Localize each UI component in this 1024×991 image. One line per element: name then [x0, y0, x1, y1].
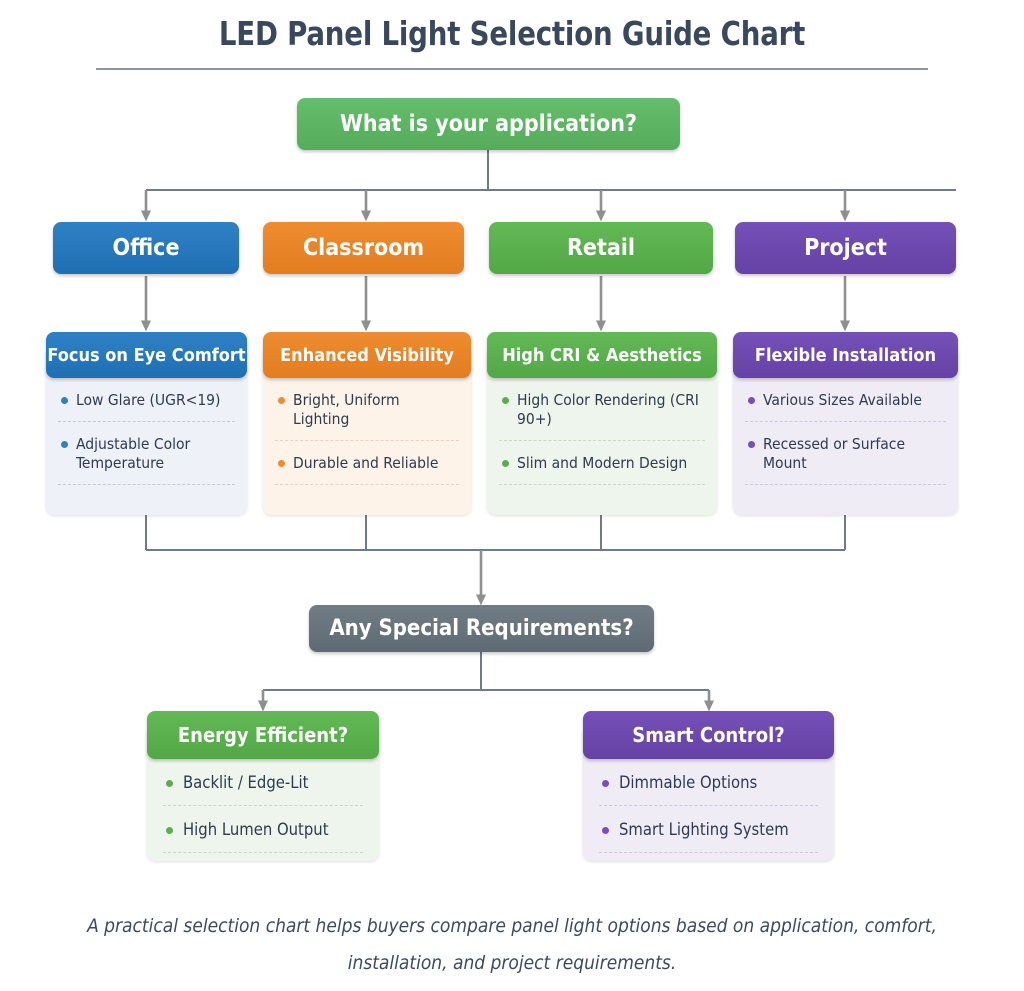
card-item-list: Dimmable Options Smart Lighting System [583, 759, 834, 853]
category-box-project[interactable]: Project [735, 222, 956, 274]
list-item: Recessed or Surface Mount [745, 422, 946, 485]
card-header: Enhanced Visibility [263, 332, 471, 378]
list-item: Various Sizes Available [745, 378, 946, 422]
footer-caption: A practical selection chart helps buyers… [72, 908, 952, 982]
feature-card-enhanced-visibility[interactable]: Enhanced Visibility Bright, Uniform Ligh… [263, 332, 471, 515]
list-item: Dimmable Options [599, 759, 818, 806]
list-item: Backlit / Edge-Lit [163, 759, 363, 806]
category-box-classroom[interactable]: Classroom [263, 222, 464, 274]
feature-card-high-cri[interactable]: High CRI & Aesthetics High Color Renderi… [487, 332, 717, 515]
list-item: High Color Rendering (CRI 90+) [499, 378, 705, 441]
card-item-list: Bright, Uniform Lighting Durable and Rel… [263, 378, 471, 485]
list-item: Slim and Modern Design [499, 441, 705, 485]
root-question-box[interactable]: What is your application? [297, 98, 680, 150]
list-item: Adjustable Color Temperature [58, 422, 235, 485]
card-header: Smart Control? [583, 711, 834, 759]
flowchart-canvas: LED Panel Light Selection Guide Chart [0, 0, 1024, 991]
list-item: Smart Lighting System [599, 806, 818, 853]
list-item: High Lumen Output [163, 806, 363, 853]
list-item: Low Glare (UGR<19) [58, 378, 235, 422]
title-divider [96, 68, 928, 70]
card-item-list: Low Glare (UGR<19) Adjustable Color Temp… [46, 378, 247, 485]
feature-card-flexible-installation[interactable]: Flexible Installation Various Sizes Avai… [733, 332, 958, 515]
decision-box-special-requirements[interactable]: Any Special Requirements? [309, 605, 654, 652]
category-box-office[interactable]: Office [53, 222, 239, 274]
list-item: Durable and Reliable [275, 441, 459, 485]
outcome-card-energy-efficient[interactable]: Energy Efficient? Backlit / Edge-Lit Hig… [147, 711, 379, 861]
card-item-list: Backlit / Edge-Lit High Lumen Output [147, 759, 379, 853]
category-box-retail[interactable]: Retail [489, 222, 713, 274]
card-item-list: High Color Rendering (CRI 90+) Slim and … [487, 378, 717, 485]
card-header: High CRI & Aesthetics [487, 332, 717, 378]
outcome-card-smart-control[interactable]: Smart Control? Dimmable Options Smart Li… [583, 711, 834, 861]
card-header: Energy Efficient? [147, 711, 379, 759]
page-title: LED Panel Light Selection Guide Chart [36, 14, 988, 53]
feature-card-eye-comfort[interactable]: Focus on Eye Comfort Low Glare (UGR<19) … [46, 332, 247, 515]
card-header: Flexible Installation [733, 332, 958, 378]
card-item-list: Various Sizes Available Recessed or Surf… [733, 378, 958, 485]
list-item: Bright, Uniform Lighting [275, 378, 459, 441]
card-header: Focus on Eye Comfort [46, 332, 247, 378]
